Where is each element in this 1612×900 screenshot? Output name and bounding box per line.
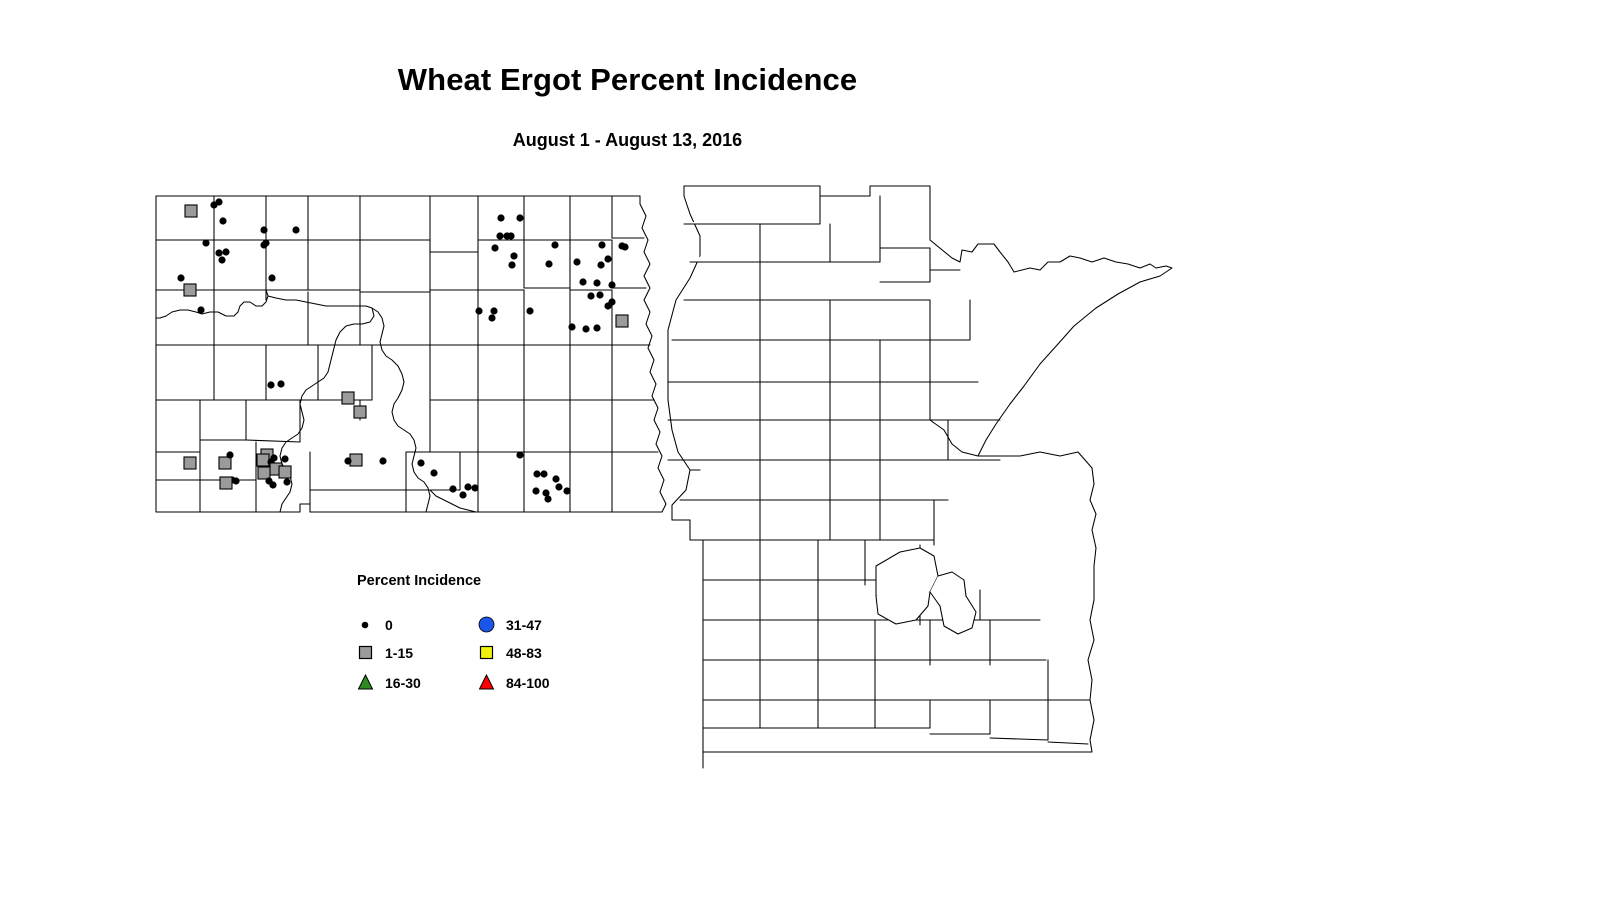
legend-square-icon bbox=[478, 642, 500, 664]
map-marker-dot bbox=[587, 292, 594, 299]
map-marker-dot bbox=[226, 451, 233, 458]
map-marker-dot bbox=[475, 307, 482, 314]
map-marker-dot bbox=[508, 261, 515, 268]
map-marker-dot bbox=[219, 217, 226, 224]
map-marker-square bbox=[279, 466, 291, 478]
map-svg bbox=[0, 0, 1612, 900]
map-marker-dot bbox=[283, 478, 290, 485]
map-marker-square bbox=[184, 284, 196, 296]
map-marker-dot bbox=[568, 323, 575, 330]
map-marker-square bbox=[184, 457, 196, 469]
legend-entry-label: 84-100 bbox=[506, 675, 550, 691]
map-marker-dot bbox=[430, 469, 437, 476]
map-marker-dot bbox=[277, 380, 284, 387]
map-marker-dot bbox=[593, 324, 600, 331]
legend-title: Percent Incidence bbox=[357, 573, 481, 589]
map-marker-dot bbox=[510, 252, 517, 259]
map-marker-dot bbox=[197, 306, 204, 313]
map-marker-square bbox=[354, 406, 366, 418]
map-marker-dot bbox=[496, 232, 503, 239]
map-marker-dot bbox=[533, 470, 540, 477]
map-legend: Percent Incidence 01-1516-3031-4748-8384… bbox=[340, 568, 610, 703]
map-marker-dot bbox=[551, 241, 558, 248]
map-marker-dot bbox=[552, 475, 559, 482]
map-marker-dot bbox=[540, 470, 547, 477]
map-marker-square bbox=[342, 392, 354, 404]
map-marker-dot bbox=[516, 214, 523, 221]
map-marker-dot bbox=[260, 226, 267, 233]
map-marker-dot bbox=[545, 260, 552, 267]
map-marker-dot bbox=[582, 325, 589, 332]
legend-circle-icon bbox=[478, 614, 500, 636]
map-marker-dot bbox=[269, 481, 276, 488]
map-marker-dot bbox=[281, 455, 288, 462]
map-marker-square bbox=[258, 467, 270, 479]
map-marker-dot bbox=[544, 495, 551, 502]
north-dakota-counties bbox=[156, 196, 666, 512]
map-marker-dot bbox=[267, 381, 274, 388]
map-marker-dot bbox=[604, 255, 611, 262]
legend-entry-label: 0 bbox=[385, 617, 393, 633]
map-marker-dot bbox=[596, 291, 603, 298]
map-marker-square bbox=[185, 205, 197, 217]
legend-triangle-icon bbox=[478, 672, 500, 694]
map-marker-dot bbox=[507, 232, 514, 239]
map-marker-dot bbox=[417, 459, 424, 466]
map-marker-square bbox=[616, 315, 628, 327]
map-marker-dot bbox=[598, 241, 605, 248]
map-marker-dot bbox=[202, 239, 209, 246]
map-marker-dot bbox=[573, 258, 580, 265]
map-marker-dot bbox=[532, 487, 539, 494]
map-marker-dot bbox=[268, 274, 275, 281]
map-marker-dot bbox=[491, 244, 498, 251]
legend-square-icon bbox=[357, 642, 379, 664]
map-marker-dot bbox=[497, 214, 504, 221]
map-marker-dot bbox=[593, 279, 600, 286]
map-marker-dot bbox=[379, 457, 386, 464]
map-marker-dot bbox=[597, 261, 604, 268]
map-marker-dot bbox=[464, 483, 471, 490]
map-marker-dot bbox=[516, 451, 523, 458]
legend-entry-label: 48-83 bbox=[506, 645, 542, 661]
map-marker-dot bbox=[608, 281, 615, 288]
map-marker-dot bbox=[490, 307, 497, 314]
legend-triangle-icon bbox=[357, 672, 379, 694]
map-marker-square bbox=[257, 454, 269, 466]
map-marker-dot bbox=[292, 226, 299, 233]
map-marker-square bbox=[350, 454, 362, 466]
map-marker-square bbox=[219, 457, 231, 469]
map-marker-dot bbox=[215, 198, 222, 205]
map-marker-dot bbox=[621, 243, 628, 250]
map-marker-dot bbox=[459, 491, 466, 498]
map-marker-dot bbox=[488, 314, 495, 321]
map-marker-dot bbox=[218, 256, 225, 263]
map-marker-dot bbox=[177, 274, 184, 281]
map-marker-dot bbox=[344, 457, 351, 464]
map-marker-square bbox=[220, 477, 232, 489]
map-marker-dot bbox=[232, 477, 239, 484]
map-marker-dot bbox=[215, 249, 222, 256]
legend-small-dot-icon bbox=[357, 614, 379, 636]
map-marker-dot bbox=[563, 487, 570, 494]
map-marker-dot bbox=[449, 485, 456, 492]
map-page: Wheat Ergot Percent Incidence August 1 -… bbox=[0, 0, 1612, 900]
legend-entry-label: 31-47 bbox=[506, 617, 542, 633]
map-marker-dot bbox=[579, 278, 586, 285]
map-marker-dot bbox=[526, 307, 533, 314]
map-marker-dot bbox=[222, 248, 229, 255]
map-marker-dot bbox=[555, 483, 562, 490]
map-marker-dot bbox=[471, 484, 478, 491]
legend-entry-label: 16-30 bbox=[385, 675, 421, 691]
map-marker-dot bbox=[260, 241, 267, 248]
legend-entry-label: 1-15 bbox=[385, 645, 413, 661]
map-canvas bbox=[0, 0, 1612, 900]
map-marker-dot bbox=[608, 298, 615, 305]
minnesota-counties bbox=[668, 186, 1172, 768]
